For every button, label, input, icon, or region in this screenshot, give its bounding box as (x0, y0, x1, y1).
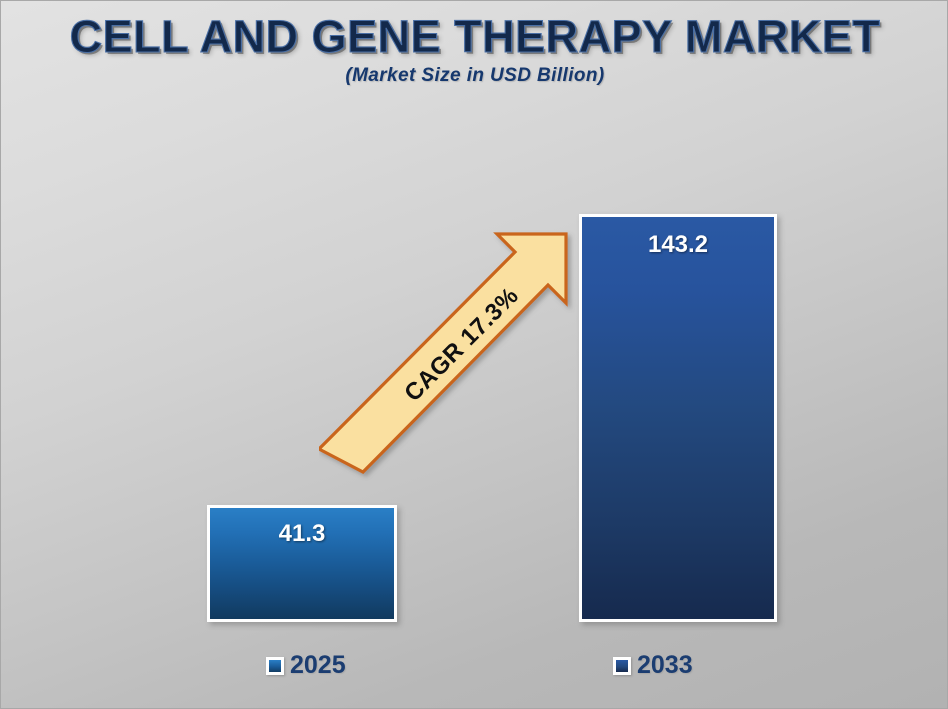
legend-label-2025: 2025 (290, 651, 346, 680)
legend-item-2033: 2033 (613, 651, 693, 680)
legend-label-2033: 2033 (637, 651, 693, 680)
legend-swatch-2033-icon (613, 657, 631, 675)
bar-value-2025: 41.3 (210, 520, 394, 548)
chart-legend: 2025 2033 (1, 651, 948, 685)
title-block: CELL AND GENE THERAPY MARKET (Market Siz… (1, 13, 948, 87)
legend-swatch-2025-icon (266, 657, 284, 675)
page-title: CELL AND GENE THERAPY MARKET (1, 13, 948, 61)
bar-value-2033: 143.2 (582, 231, 774, 259)
bar-2025: 41.3 (207, 505, 397, 622)
bar-2033: 143.2 (579, 214, 777, 622)
chart-subtitle: (Market Size in USD Billion) (1, 65, 948, 87)
chart-canvas: CELL AND GENE THERAPY MARKET (Market Siz… (0, 0, 948, 709)
cagr-label: CAGR 17.3% (385, 268, 539, 422)
legend-item-2025: 2025 (266, 651, 346, 680)
